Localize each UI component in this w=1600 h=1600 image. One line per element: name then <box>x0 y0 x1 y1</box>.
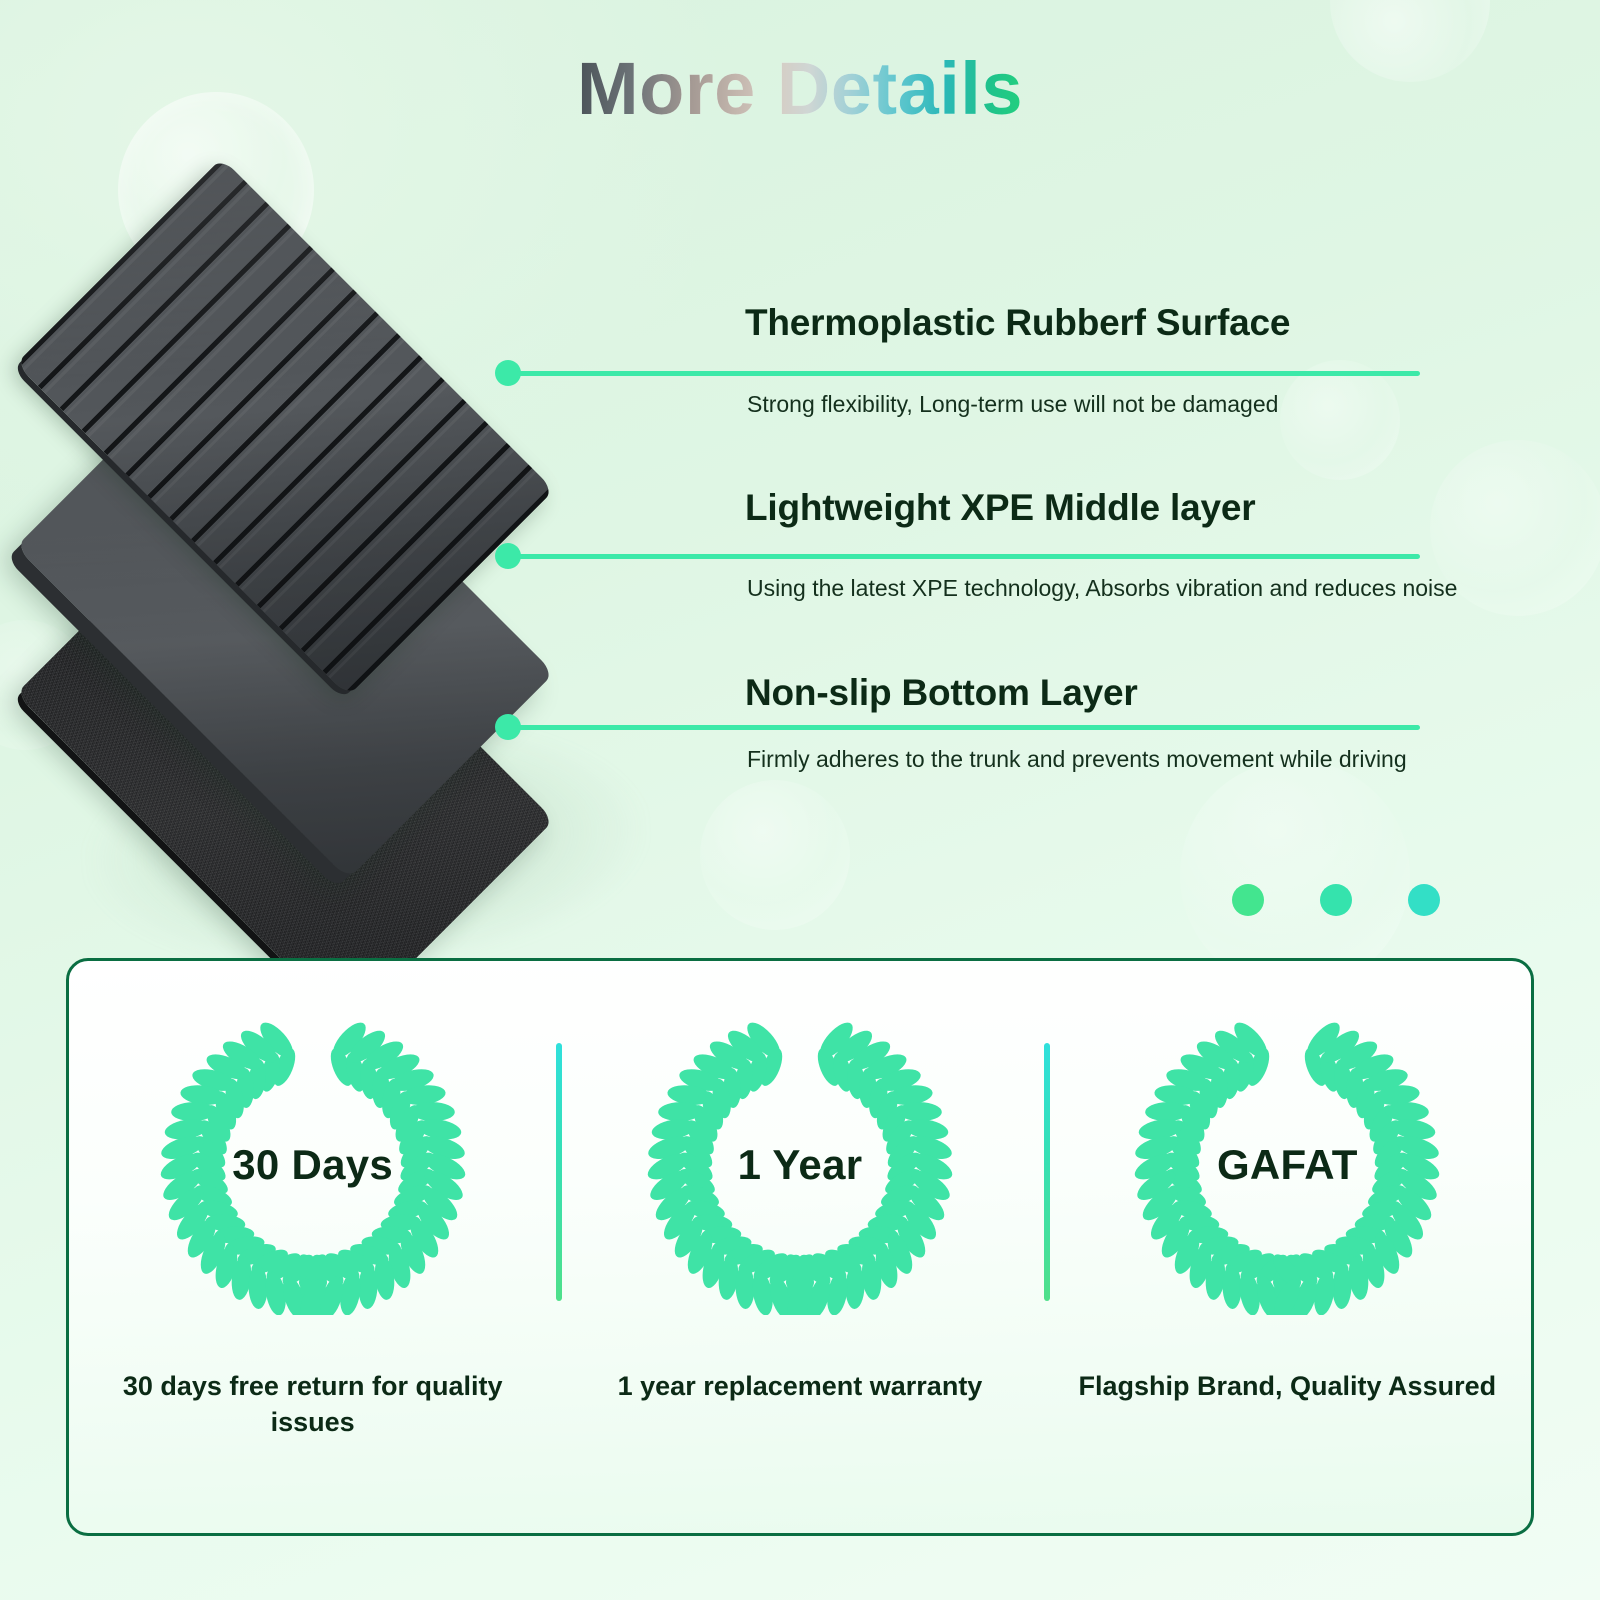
guarantee-badge-gafat: GAFAT Flagship Brand, Quality Assured <box>1044 961 1531 1533</box>
guarantee-badge-label: 30 Days <box>232 1141 393 1189</box>
callout-line-top-layer <box>516 371 1420 376</box>
callout-heading-bottom-layer: Non-slip Bottom Layer <box>745 672 1138 714</box>
page-title-text: More Details <box>577 47 1023 130</box>
guarantee-card: 30 Days 30 days free return for quality … <box>66 958 1534 1536</box>
bubble-decoration-icon <box>1280 360 1400 480</box>
guarantee-badge-caption: 1 year replacement warranty <box>590 1369 1010 1405</box>
product-detail-infographic: More Details More Details Thermoplastic … <box>0 0 1600 1600</box>
guarantee-badge-label: GAFAT <box>1217 1141 1358 1189</box>
pagination-dot-3[interactable] <box>1408 884 1440 916</box>
callout-line-middle-layer <box>516 554 1420 559</box>
pagination-dot-2[interactable] <box>1320 884 1352 916</box>
guarantee-badge-caption: 30 days free return for quality issues <box>103 1369 523 1440</box>
guarantee-badge-1-year: 1 Year 1 year replacement warranty <box>556 961 1043 1533</box>
laurel-wreath-icon: 1 Year <box>635 1015 965 1315</box>
callout-heading-middle-layer: Lightweight XPE Middle layer <box>745 487 1255 529</box>
callout-heading-top-layer: Thermoplastic Rubberf Surface <box>745 302 1290 344</box>
callout-description-top-layer: Strong flexibility, Long-term use will n… <box>747 391 1278 418</box>
exploded-layers-illustration <box>40 200 760 900</box>
bubble-decoration-icon <box>1180 760 1410 990</box>
callout-line-bottom-layer <box>516 725 1420 730</box>
ribbed-rubber-plate <box>50 192 520 662</box>
pagination-dot-1[interactable] <box>1232 884 1264 916</box>
page-title: More Details More Details <box>0 52 1600 126</box>
guarantee-badge-caption: Flagship Brand, Quality Assured <box>1077 1369 1497 1405</box>
laurel-wreath-icon: 30 Days <box>148 1015 478 1315</box>
ribbed-rubber-plate-face <box>16 158 554 696</box>
callout-description-bottom-layer: Firmly adheres to the trunk and prevents… <box>747 746 1407 773</box>
laurel-wreath-icon: GAFAT <box>1122 1015 1452 1315</box>
pagination-dots[interactable] <box>1232 884 1462 918</box>
callout-description-middle-layer: Using the latest XPE technology, Absorbs… <box>747 575 1457 602</box>
guarantee-badge-30-days: 30 Days 30 days free return for quality … <box>69 961 556 1533</box>
guarantee-badge-label: 1 Year <box>738 1141 863 1189</box>
guarantee-badges: 30 Days 30 days free return for quality … <box>69 961 1531 1533</box>
